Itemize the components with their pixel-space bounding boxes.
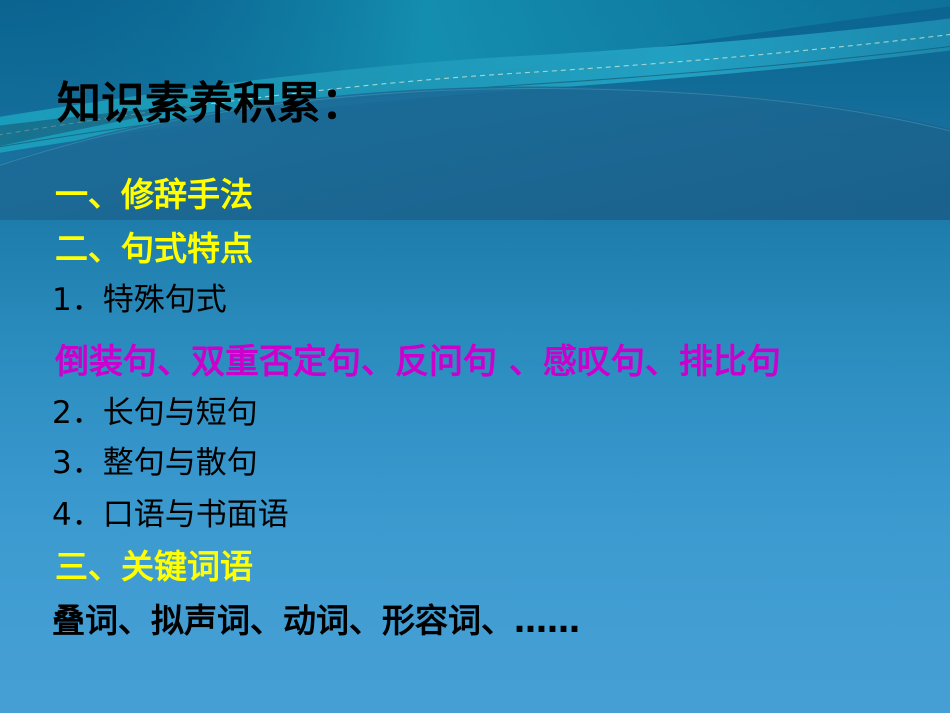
list-item-4: 4．口语与书面语 [52,500,289,531]
list-item-1: 1．特殊句式 [52,285,227,316]
slide-text-content: 知识素养积累： 一、修辞手法 二、句式特点 1．特殊句式 倒装句、双重否定句、反… [0,0,950,713]
heading-rhetoric: 一、修辞手法 [55,178,253,211]
presentation-slide: 知识素养积累： 一、修辞手法 二、句式特点 1．特殊句式 倒装句、双重否定句、反… [0,0,950,713]
list-item-2: 2．长句与短句 [52,398,258,429]
heading-keywords: 三、关键词语 [55,550,253,583]
page-title: 知识素养积累： [57,82,365,126]
heading-sentence-patterns: 二、句式特点 [55,232,253,265]
emphasis-sentence-types: 倒装句、双重否定句、反问句 、感叹句、排比句 [55,345,781,379]
list-item-3: 3．整句与散句 [52,448,258,479]
keyword-examples-line: 叠词、拟声词、动词、形容词、…… [52,604,580,637]
